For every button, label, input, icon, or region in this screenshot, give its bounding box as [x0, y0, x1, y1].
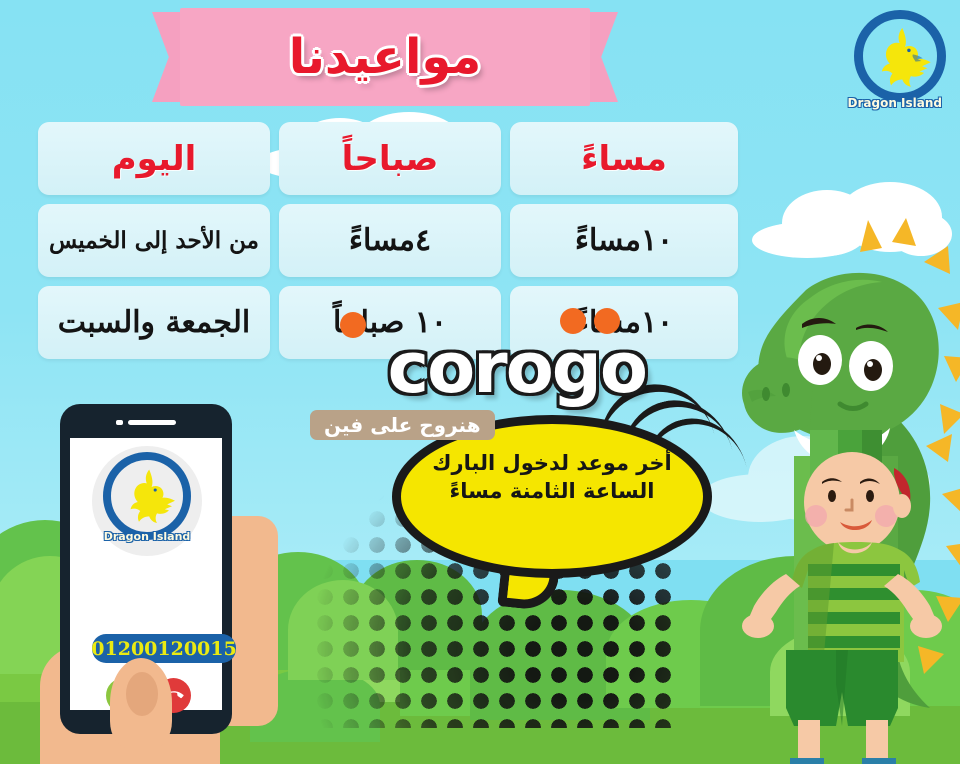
header-cell-evening: مساءً [510, 122, 738, 195]
cell-evening: ١٠مساءً [510, 204, 738, 277]
header-cell-morning: صباحاً [279, 122, 501, 195]
cell-morning: ٤مساءً [279, 204, 501, 277]
notice-line-1: أخر موعد لدخول البارك [410, 449, 694, 477]
dragon-head-icon [868, 24, 934, 90]
page-title: مواعيدنا [152, 8, 618, 106]
phone-in-hand: Dragon Island 01200120015 [52, 396, 272, 764]
watermark-dot-left [340, 312, 366, 338]
cell-morning-value: ٤مساءً [349, 223, 431, 258]
cell-day: الجمعة والسبت [38, 286, 270, 359]
table-header-row: اليوم صباحاً مساءً [38, 122, 738, 195]
header-day-label: اليوم [112, 139, 197, 179]
watermark-logo: corogo [306, 336, 646, 400]
phone-number: 01200120015 [92, 634, 236, 663]
cell-day: من الأحد إلى الخميس [38, 204, 270, 277]
cell-day-value: من الأحد إلى الخميس [49, 227, 259, 254]
phone-logo-label: Dragon Island [98, 530, 196, 543]
dragon-head-icon [118, 466, 178, 526]
watermark-dot-right [594, 308, 620, 334]
header-evening-label: مساءً [581, 139, 667, 179]
watermark-dot-mid [560, 308, 586, 334]
cell-day-value: الجمعة والسبت [58, 305, 250, 340]
phone-brand-logo: Dragon Island [92, 446, 202, 556]
poster-canvas: مواعيدنا Dragon Island اليوم صباحاً مساء… [0, 0, 960, 764]
title-ribbon: مواعيدنا [152, 8, 618, 106]
boy-character [742, 434, 938, 764]
hand-thumb-nail [126, 672, 158, 716]
header-cell-day: اليوم [38, 122, 270, 195]
header-morning-label: صباحاً [342, 139, 439, 179]
notice-line-2: الساعة الثامنة مساءً [410, 477, 694, 505]
logo-label: Dragon Island [858, 96, 942, 110]
notice-text: أخر موعد لدخول البارك الساعة الثامنة مسا… [410, 449, 694, 505]
cell-evening-value: ١٠مساءً [575, 223, 673, 258]
watermark-tagline: هنروح على فين [310, 410, 495, 440]
brand-logo: Dragon Island [846, 8, 954, 120]
phone-camera [116, 420, 123, 425]
table-row: من الأحد إلى الخميس ٤مساءً ١٠مساءً [38, 204, 738, 277]
notice-speech-bubble: أخر موعد لدخول البارك الساعة الثامنة مسا… [392, 415, 712, 600]
phone-speaker [128, 420, 176, 425]
